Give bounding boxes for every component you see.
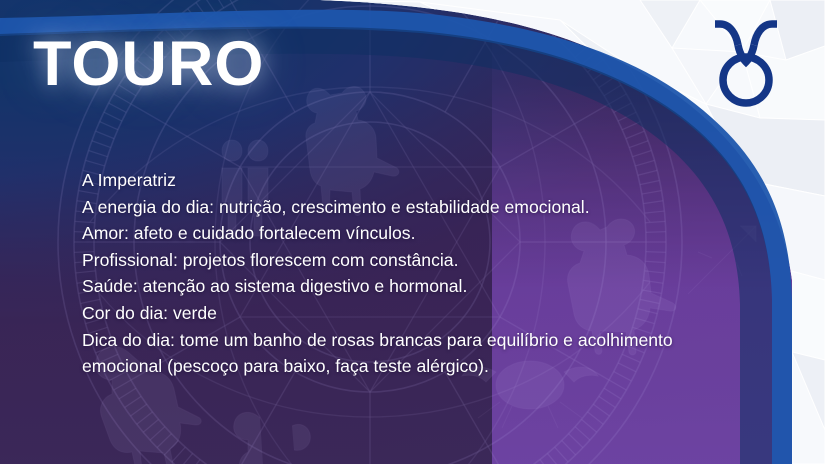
horoscope-line: Cor do dia: verde xyxy=(82,300,742,327)
horoscope-line: A Imperatriz xyxy=(82,167,742,194)
horoscope-card: TOURO A Imperatriz A energia do dia: nut… xyxy=(0,0,825,464)
horoscope-text: A Imperatriz A energia do dia: nutrição,… xyxy=(82,167,742,380)
horoscope-line: Amor: afeto e cuidado fortalecem vínculo… xyxy=(82,220,742,247)
taurus-glyph-icon xyxy=(706,18,786,110)
horoscope-line: Dica do dia: tome um banho de rosas bran… xyxy=(82,327,742,380)
horoscope-line: A energia do dia: nutrição, crescimento … xyxy=(82,194,742,221)
horoscope-line: Profissional: projetos florescem com con… xyxy=(82,247,742,274)
page-title: TOURO xyxy=(33,33,264,96)
horoscope-line: Saúde: atenção ao sistema digestivo e ho… xyxy=(82,273,742,300)
